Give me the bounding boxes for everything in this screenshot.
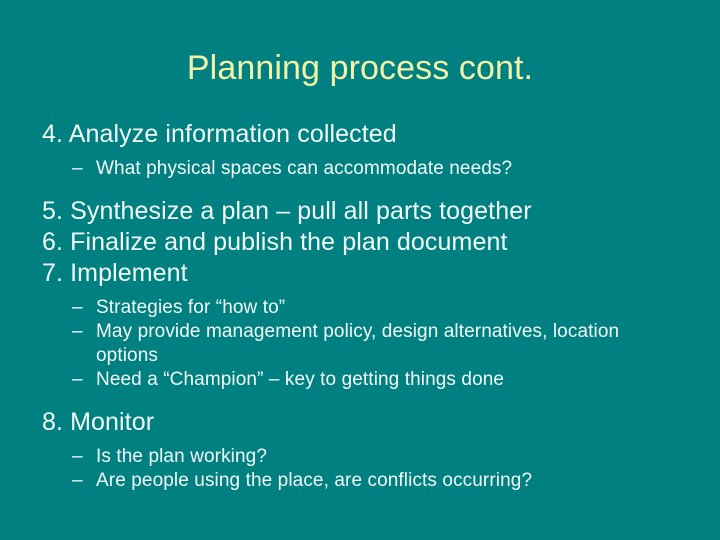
list-item-8-label: 8. Monitor (42, 408, 154, 436)
sub-bullet-implement-3-label: Need a “Champion” – key to getting thing… (96, 369, 504, 390)
slide-body-content: 4. Analyze information collected–What ph… (42, 119, 682, 493)
list-item-4: 4. Analyze information collected (42, 119, 682, 150)
list-item-7: 7. Implement (42, 258, 682, 289)
bullet-dash-icon: – (72, 320, 96, 344)
sub-bullet-analyze-1-label: What physical spaces can accommodate nee… (96, 158, 512, 179)
list-item-5-label: 5. Synthesize a plan – pull all parts to… (42, 197, 532, 225)
bullet-dash-icon: – (72, 368, 96, 392)
sub-bullet-implement-2-label: May provide management policy, design al… (96, 321, 619, 366)
slide-canvas: Planning process cont. 4. Analyze inform… (0, 0, 720, 540)
sub-bullet-monitor-1-label: Is the plan working? (96, 446, 267, 467)
sub-bullet-analyze-1: –What physical spaces can accommodate ne… (72, 157, 682, 181)
list-item-4-label: 4. Analyze information collected (42, 120, 397, 148)
sub-bullet-implement-2: –May provide management policy, design a… (72, 320, 682, 368)
list-item-7-label: 7. Implement (42, 259, 188, 287)
bullet-dash-icon: – (72, 157, 96, 181)
sub-bullet-monitor-2: –Are people using the place, are conflic… (72, 469, 682, 493)
sub-bullet-monitor-1: –Is the plan working? (72, 445, 682, 469)
list-item-6: 6. Finalize and publish the plan documen… (42, 227, 682, 258)
bullet-dash-icon: – (72, 445, 96, 469)
list-item-5: 5. Synthesize a plan – pull all parts to… (42, 196, 682, 227)
sub-bullet-monitor-2-label: Are people using the place, are conflict… (96, 470, 532, 491)
bullet-dash-icon: – (72, 296, 96, 320)
page-title: Planning process cont. (0, 48, 720, 88)
sub-bullet-implement-1-label: Strategies for “how to” (96, 297, 285, 318)
list-item-6-label: 6. Finalize and publish the plan documen… (42, 228, 508, 256)
list-item-8: 8. Monitor (42, 407, 682, 438)
bullet-dash-icon: – (72, 469, 96, 493)
sub-bullet-implement-1: –Strategies for “how to” (72, 296, 682, 320)
sub-bullet-implement-3: –Need a “Champion” – key to getting thin… (72, 368, 682, 392)
